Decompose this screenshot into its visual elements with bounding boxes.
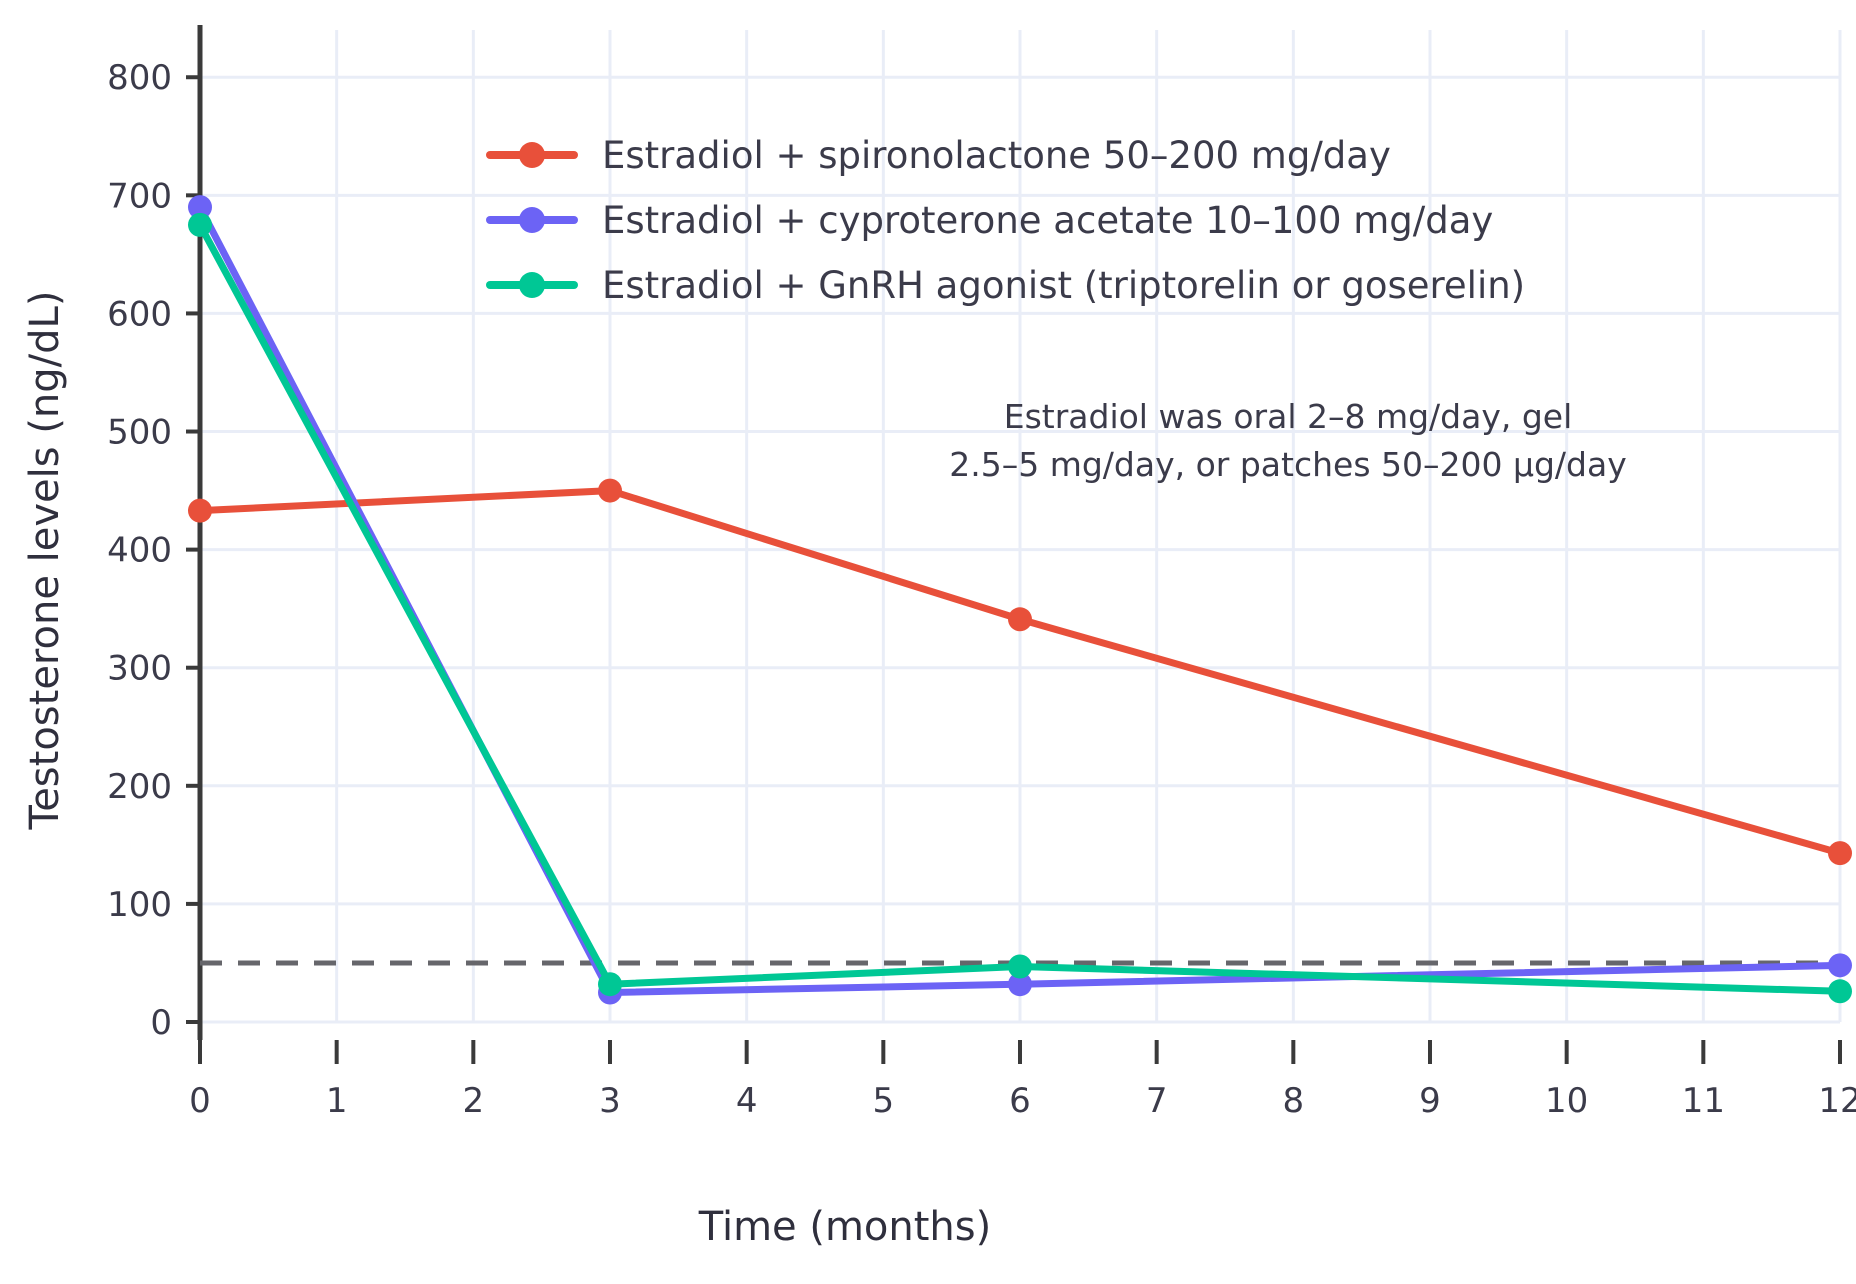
legend-swatch-marker: [519, 272, 545, 298]
legend-entry-3[interactable]: Estradiol + GnRH agonist (triptorelin or…: [490, 264, 1525, 307]
x-tick-label: 0: [189, 1081, 211, 1121]
data-point-marker: [1828, 979, 1852, 1003]
data-point-marker: [188, 499, 212, 523]
x-tick-label: 6: [1009, 1081, 1031, 1121]
y-tick-label: 300: [107, 649, 172, 689]
x-tick-label: 12: [1818, 1081, 1856, 1121]
data-point-marker: [1008, 607, 1032, 631]
x-axis-title: Time (months): [698, 1204, 991, 1250]
y-axis-tick-labels: 0100200300400500600700800: [107, 58, 172, 1043]
y-tick-label: 800: [107, 58, 172, 98]
legend-entry-label: Estradiol + spironolactone 50–200 mg/day: [602, 134, 1391, 177]
x-tick-label: 7: [1146, 1081, 1168, 1121]
annotation-line: Estradiol was oral 2–8 mg/day, gel: [1004, 397, 1573, 436]
y-tick-label: 200: [107, 767, 172, 807]
x-tick-label: 2: [463, 1081, 485, 1121]
x-tick-label: 9: [1419, 1081, 1441, 1121]
legend-entry-2[interactable]: Estradiol + cyproterone acetate 10–100 m…: [490, 199, 1493, 242]
x-tick-label: 8: [1283, 1081, 1305, 1121]
data-point-marker: [1828, 953, 1852, 977]
legend-swatch-marker: [519, 142, 545, 168]
legend-entry-label: Estradiol + GnRH agonist (triptorelin or…: [602, 264, 1525, 307]
x-tick-label: 4: [736, 1081, 758, 1121]
legend-entry-label: Estradiol + cyproterone acetate 10–100 m…: [602, 199, 1493, 242]
y-tick-label: 600: [107, 294, 172, 334]
legend-swatch-marker: [519, 207, 545, 233]
chart-container: 0100200300400500600700800 01234567891011…: [0, 0, 1856, 1284]
x-tick-label: 5: [873, 1081, 895, 1121]
legend: Estradiol + spironolactone 50–200 mg/day…: [490, 134, 1525, 307]
annotation-block: Estradiol was oral 2–8 mg/day, gel2.5–5 …: [949, 397, 1626, 484]
legend-entry-1[interactable]: Estradiol + spironolactone 50–200 mg/day: [490, 134, 1391, 177]
x-axis-tick-labels: 0123456789101112: [189, 1081, 1856, 1121]
gridlines-group: [200, 30, 1840, 1022]
data-point-marker: [598, 972, 622, 996]
x-tick-label: 10: [1545, 1081, 1588, 1121]
x-tick-label: 3: [599, 1081, 621, 1121]
y-tick-label: 100: [107, 885, 172, 925]
data-point-marker: [188, 213, 212, 237]
y-tick-label: 700: [107, 176, 172, 216]
data-point-marker: [598, 479, 622, 503]
data-point-marker: [1008, 954, 1032, 978]
testosterone-line-chart: 0100200300400500600700800 01234567891011…: [0, 0, 1856, 1284]
y-axis-title: Testosterone levels (ng/dL): [22, 291, 68, 831]
x-tick-label: 11: [1682, 1081, 1725, 1121]
y-tick-label: 0: [150, 1003, 172, 1043]
y-tick-label: 500: [107, 413, 172, 453]
y-tick-label: 400: [107, 531, 172, 571]
data-point-marker: [1828, 841, 1852, 865]
annotation-line: 2.5–5 mg/day, or patches 50–200 µg/day: [949, 445, 1626, 484]
x-tick-label: 1: [326, 1081, 348, 1121]
